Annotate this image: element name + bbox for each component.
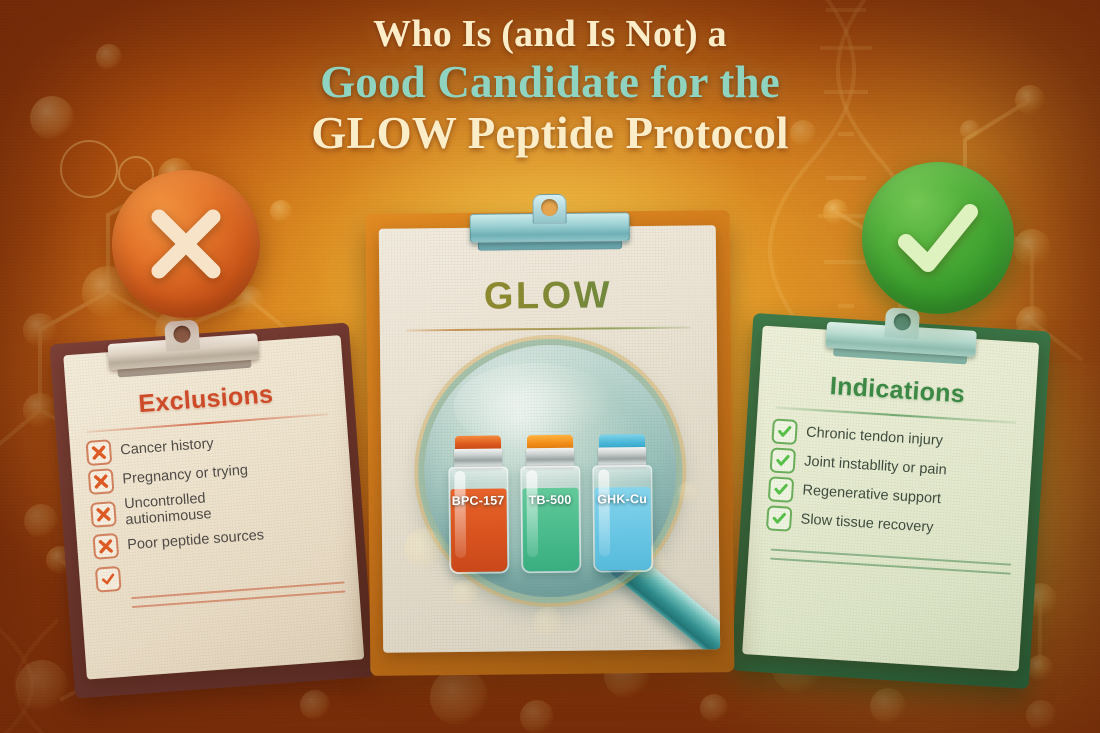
x-mark-icon <box>86 439 113 466</box>
exclusions-clipboard: Exclusions Cancer history Pregnancy or t… <box>49 322 374 698</box>
title-line-2: Good Candidate for the <box>0 58 1100 108</box>
clipboard-clamp <box>469 193 629 243</box>
vial-label: TB-500 <box>520 493 580 508</box>
check-mark-icon <box>770 447 797 474</box>
vial-label: GHK-Cu <box>592 492 652 507</box>
x-mark-icon <box>144 202 228 286</box>
indication-item-label: Chronic tendon injury <box>806 425 944 450</box>
vial-ghkcu[interactable]: GHK-Cu <box>591 434 652 573</box>
clipboard-paper: Exclusions Cancer history Pregnancy or t… <box>63 335 364 679</box>
indications-clipboard: Indications Chronic tendon injury Joint … <box>731 313 1051 689</box>
blank-writing-lines <box>748 547 1025 575</box>
magnifying-glass-icon: BPC-157 TB-500 GHK-Cu <box>380 343 720 647</box>
x-mark-icon <box>88 468 115 495</box>
x-mark-icon <box>92 533 119 560</box>
clamp-hole <box>541 199 558 216</box>
protocol-clipboard: GLOW BPC <box>366 210 735 676</box>
vial-bpc157[interactable]: BPC-157 <box>447 435 508 574</box>
clipboard-paper: GLOW BPC <box>379 225 720 653</box>
check-mark-icon <box>766 505 793 532</box>
indication-badge <box>862 162 1014 314</box>
infographic-canvas: Who Is (and Is Not) a Good Candidate for… <box>0 0 1100 733</box>
vial-label: BPC-157 <box>448 493 508 508</box>
exclusion-item-label: Poor peptide sources <box>127 527 265 553</box>
title-line-3: GLOW Peptide Protocol <box>0 109 1100 159</box>
indications-heading: Indications <box>758 368 1036 414</box>
title-line-1: Who Is (and Is Not) a <box>0 14 1100 56</box>
x-mark-icon <box>90 501 117 528</box>
indication-item-label: Slow tissue recovery <box>800 512 934 537</box>
protocol-heading: GLOW <box>379 273 716 320</box>
exclusion-item-label: Pregnancy or trying <box>122 463 249 488</box>
peptide-vial-group: BPC-157 TB-500 GHK-Cu <box>447 422 653 574</box>
page-title: Who Is (and Is Not) a Good Candidate for… <box>0 14 1100 159</box>
exclusion-badge <box>112 170 260 318</box>
check-mark-icon <box>768 476 795 503</box>
indication-item-label: Regenerative support <box>802 483 941 508</box>
exclusion-item-label: Cancer history <box>120 436 214 459</box>
check-mark-icon <box>95 566 122 593</box>
check-mark-icon <box>892 194 984 282</box>
vial-tb500[interactable]: TB-500 <box>519 435 580 574</box>
check-mark-icon <box>771 418 798 445</box>
divider <box>406 327 691 332</box>
indication-item-label: Joint instabllity or pain <box>804 454 947 479</box>
clipboard-paper: Indications Chronic tendon injury Joint … <box>742 326 1039 672</box>
